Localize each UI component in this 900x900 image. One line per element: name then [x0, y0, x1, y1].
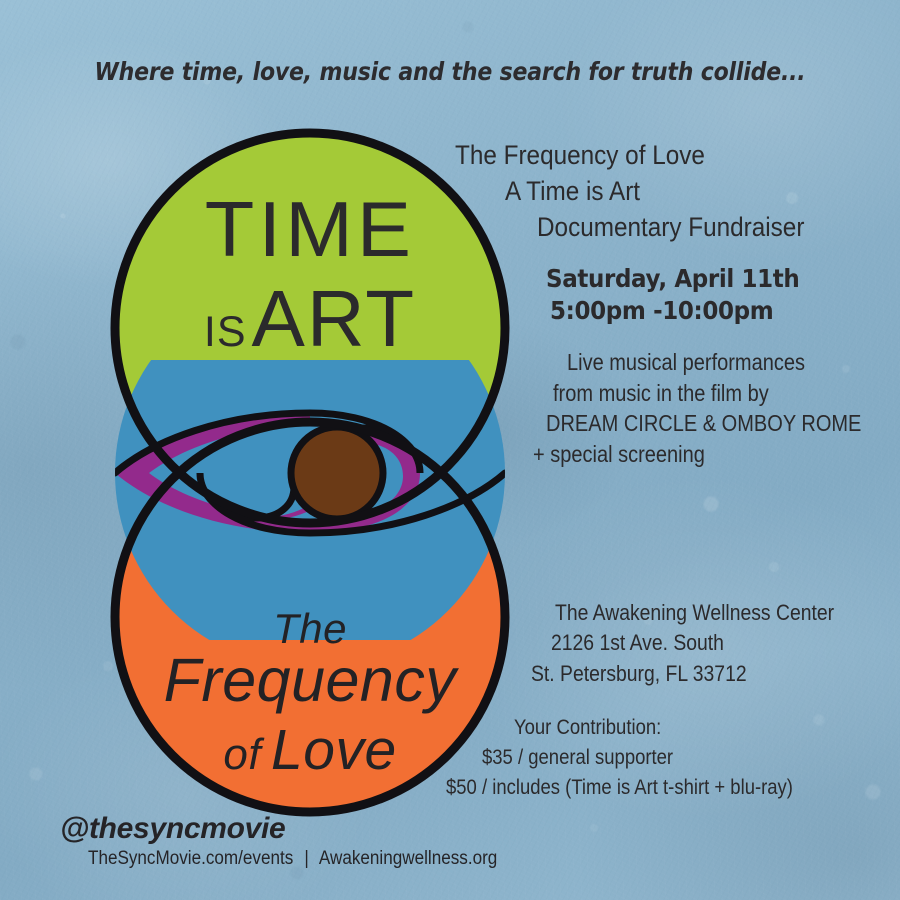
logo-of-text: of — [223, 730, 261, 779]
logo-frequency-text: Frequency — [75, 645, 545, 715]
performance-line-4: + special screening — [533, 439, 855, 470]
social-handle[interactable]: @thesyncmovie — [60, 812, 285, 846]
performer-names: DREAM CIRCLE & OMBOY ROME — [546, 408, 857, 439]
event-title: The Frequency of Love A Time is Art Docu… — [455, 137, 885, 246]
performance-line-2: from music in the film by — [553, 378, 858, 409]
event-date: Saturday, April 11th — [546, 263, 868, 295]
performances-info: Live musical performances from music in … — [533, 347, 900, 469]
logo-love-text: Love — [271, 718, 397, 782]
logo-is-art-line: ISART — [75, 273, 545, 365]
footer-urls: TheSyncMovie.com/events | Awakeningwelln… — [88, 848, 497, 870]
performance-line-1: Live musical performances — [567, 347, 859, 378]
venue-name: The Awakening Wellness Center — [555, 598, 859, 628]
contribution-heading: Your Contribution: — [514, 713, 850, 743]
contribution-tier-2: $50 / includes (Time is Art t-shirt + bl… — [446, 773, 842, 803]
tagline: Where time, love, music and the search f… — [54, 57, 846, 86]
url-awakeningwellness[interactable]: Awakeningwellness.org — [319, 848, 497, 869]
url-thesyncmovie[interactable]: TheSyncMovie.com/events — [88, 848, 293, 869]
event-datetime: Saturday, April 11th 5:00pm -10:00pm — [546, 263, 896, 327]
pupil — [291, 427, 383, 519]
title-line-3: Documentary Fundraiser — [537, 209, 850, 245]
logo-art-text: ART — [252, 274, 417, 363]
url-separator: | — [298, 848, 315, 869]
venue-city: St. Petersburg, FL 33712 — [531, 659, 857, 689]
logo-is-text: IS — [204, 308, 247, 356]
venue-street: 2126 1st Ave. South — [551, 628, 859, 658]
event-poster: Where time, love, music and the search f… — [0, 0, 900, 900]
contribution-tier-1: $35 / general supporter — [482, 743, 846, 773]
venue-info: The Awakening Wellness Center 2126 1st A… — [531, 598, 900, 689]
title-line-2: A Time is Art — [505, 173, 847, 209]
title-line-1: The Frequency of Love — [455, 137, 842, 173]
contribution-info: Your Contribution: $35 / general support… — [446, 713, 896, 802]
event-time: 5:00pm -10:00pm — [550, 295, 868, 327]
